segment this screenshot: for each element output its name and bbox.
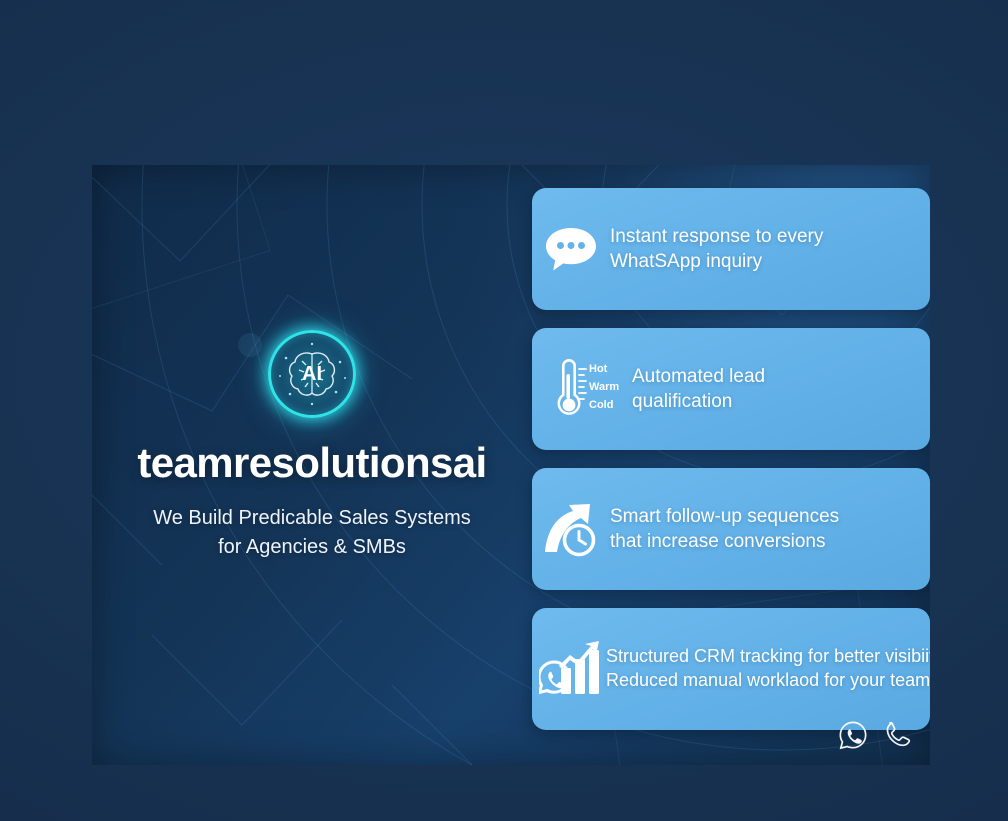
feature-card-lead-qualification[interactable]: Hot Warm Cold Automated lead qualificati… [532, 328, 930, 450]
feature-card-text: Automated lead qualification [632, 364, 930, 415]
feature-line-1: Smart follow-up sequences [610, 504, 930, 529]
feature-line-1: Automated lead [632, 364, 930, 389]
feature-line-2: qualification [632, 389, 930, 414]
tagline-line-2: for Agencies & SMBs [153, 533, 471, 562]
chat-bubble-icon [532, 224, 610, 274]
hero-banner: AI teamresolutionsai We Build Predicable… [0, 0, 1008, 821]
feature-card-text: Structured CRM tracking for better visib… [606, 645, 930, 693]
thermo-label-hot: Hot [589, 363, 608, 375]
phone-icon[interactable] [882, 720, 912, 755]
ai-brain-glyph: AI [266, 328, 358, 420]
feature-card-list: Instant response to every WhatSApp inqui… [532, 165, 930, 765]
trend-clock-icon [532, 500, 610, 558]
feature-line-1: Instant response to every [610, 224, 930, 249]
feature-card-instant-response[interactable]: Instant response to every WhatSApp inqui… [532, 188, 930, 310]
feature-card-text: Instant response to every WhatSApp inqui… [610, 224, 930, 275]
feature-line-2: that increase conversions [610, 529, 930, 554]
thermo-label-cold: Cold [589, 399, 613, 411]
feature-card-follow-up[interactable]: Smart follow-up sequences that increase … [532, 468, 930, 590]
contact-icons [838, 720, 912, 755]
feature-line-2: WhatSApp inquiry [610, 249, 930, 274]
feature-line-2: Reduced manual worklaod for your team [606, 669, 930, 693]
thermometer-icon: Hot Warm Cold [532, 358, 632, 420]
whatsapp-bar-chart-icon [532, 640, 610, 698]
thermo-label-warm: Warm [589, 381, 619, 393]
brand-column: AI teamresolutionsai We Build Predicable… [92, 165, 532, 765]
feature-card-crm-tracking[interactable]: Structured CRM tracking for better visib… [532, 608, 930, 730]
feature-card-text: Smart follow-up sequences that increase … [610, 504, 930, 555]
tagline-line-1: We Build Predicable Sales Systems [153, 504, 471, 533]
logo-label: AI [302, 363, 322, 385]
brand-tagline: We Build Predicable Sales Systems for Ag… [153, 504, 471, 562]
brand-name: teamresolutionsai [137, 442, 486, 484]
ai-brain-icon: AI [266, 328, 358, 420]
feature-line-1: Structured CRM tracking for better visib… [606, 645, 930, 669]
hero-panel: AI teamresolutionsai We Build Predicable… [92, 165, 930, 765]
whatsapp-icon[interactable] [838, 720, 868, 755]
